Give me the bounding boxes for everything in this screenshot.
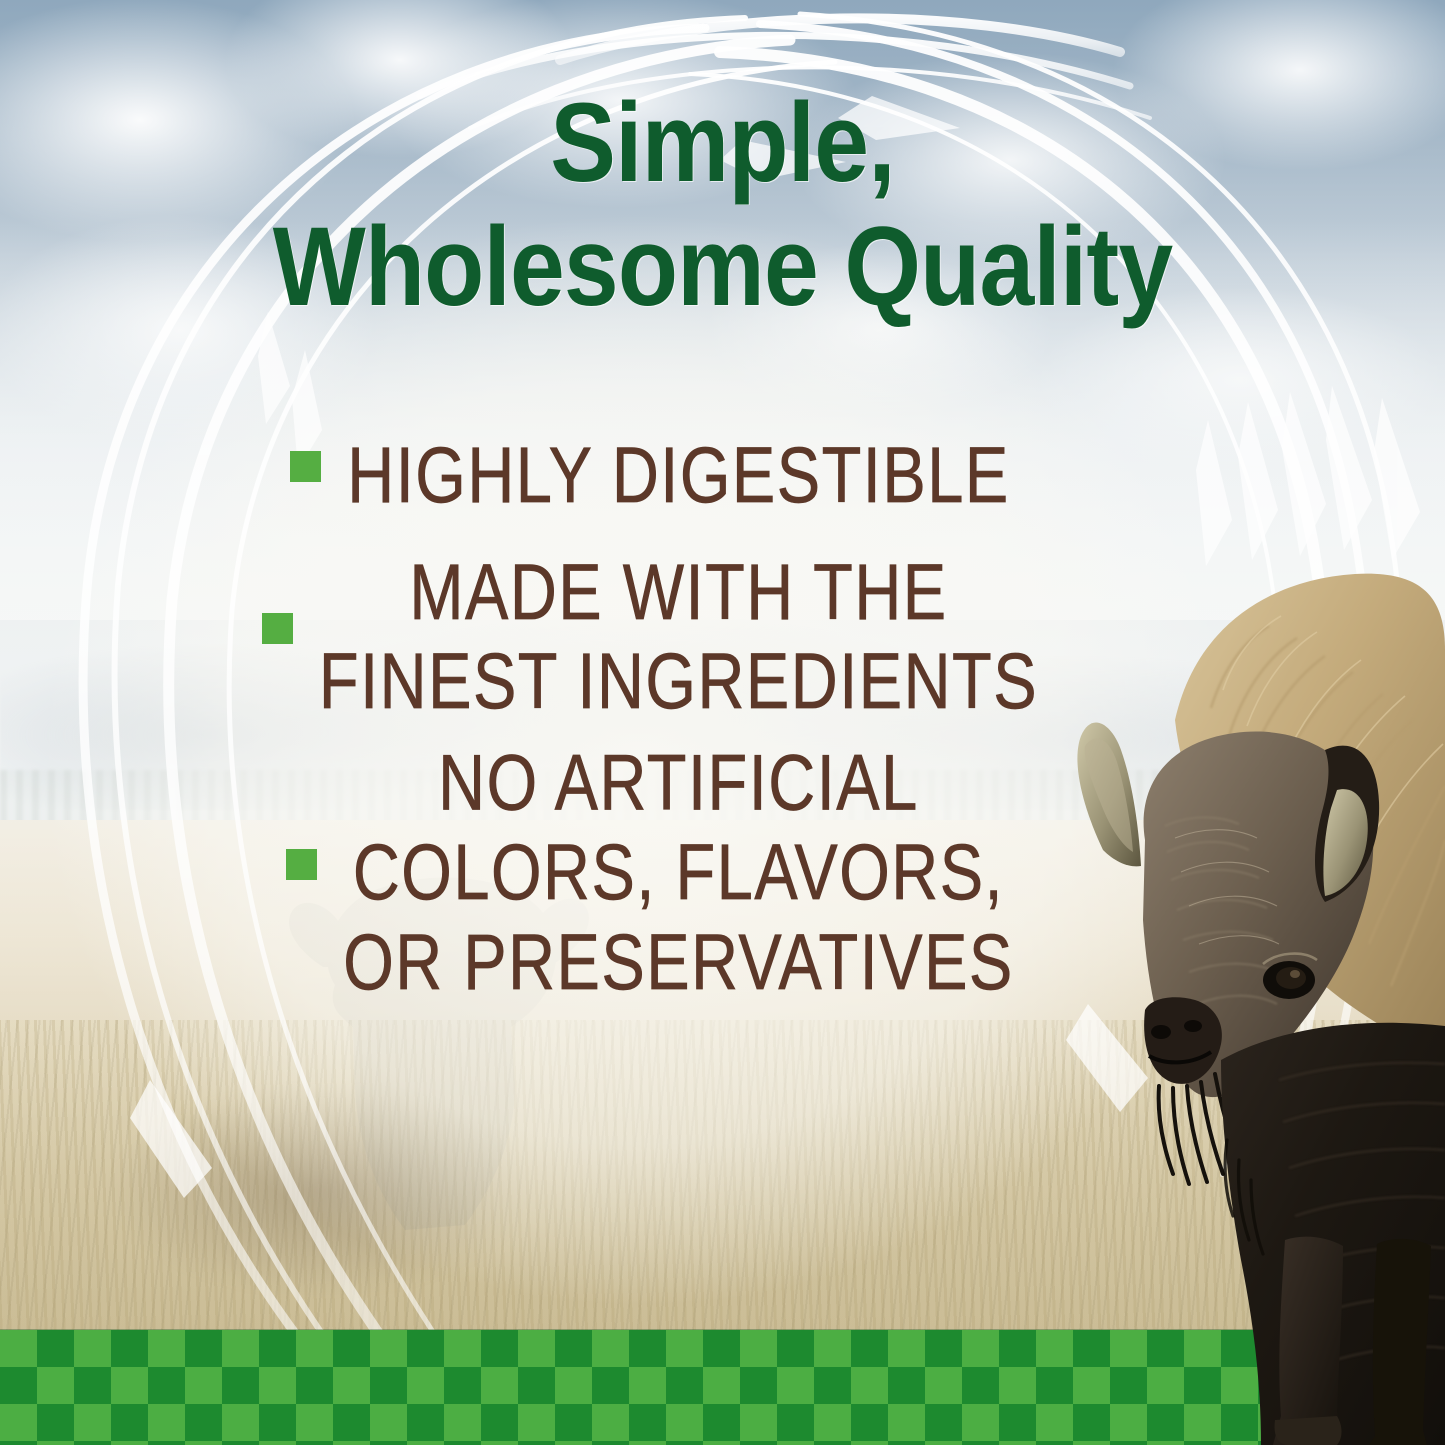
bison-photo (1025, 540, 1445, 1445)
list-item: MADE WITH THEFINEST INGREDIENTS (250, 563, 1050, 710)
title-line-2: Wholesome Quality (87, 212, 1359, 322)
bullet-2-line-1: MADE WITH THE (319, 547, 1038, 637)
bullet-1-line-1: HIGHLY DIGESTIBLE (347, 430, 1009, 520)
bullet-3-line-1: NO ARTIFICIAL (343, 738, 1014, 828)
bullet-3-line-2: COLORS, FLAVORS, (343, 828, 1014, 918)
list-item: HIGHLY DIGESTIBLE (250, 438, 1050, 511)
green-square-bullet-icon (262, 613, 293, 644)
green-square-bullet-icon (286, 849, 317, 880)
green-square-bullet-icon (290, 451, 321, 482)
page-title: Simple, Wholesome Quality (0, 88, 1445, 322)
poster-canvas: Simple, Wholesome Quality HIGHLY DIGESTI… (0, 0, 1445, 1445)
title-line-1: Simple, (87, 88, 1359, 198)
bullet-3-line-3: OR PRESERVATIVES (343, 917, 1014, 1007)
benefits-list: HIGHLY DIGESTIBLE MADE WITH THEFINEST IN… (250, 438, 1050, 1035)
bullet-2-line-2: FINEST INGREDIENTS (319, 637, 1038, 727)
list-item: NO ARTIFICIALCOLORS, FLAVORS,OR PRESERVA… (250, 762, 1050, 982)
